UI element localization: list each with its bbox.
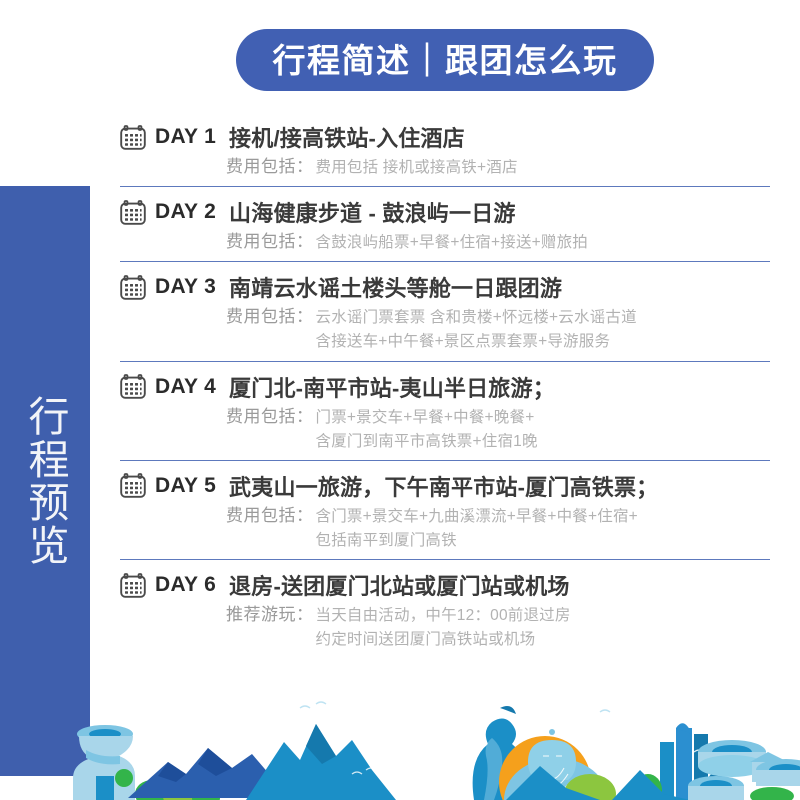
description-text: 费用包括 接机或接高铁+酒店 (314, 157, 518, 179)
description-line: 费用包括： 含接送车+中午餐+景区点票套票+导游服务 (226, 329, 770, 353)
day-title: 南靖云水谣土楼头等舱一日跟团游 (229, 271, 562, 303)
poster-page: 行程预览 行程简述｜跟团怎么玩 (0, 0, 800, 800)
day-label: DAY 4 (155, 375, 216, 399)
calendar-icon (120, 473, 146, 498)
description-text: 门票+景交车+早餐+中餐+晚餐+ (314, 407, 535, 429)
description-label: 费用包括： (226, 405, 314, 429)
list-item[interactable]: DAY 1 接机/接高铁站-入住酒店 费用包括： 费用包括 接机或接高铁+酒店 (120, 112, 770, 187)
day-description: 费用包括： 含门票+景交车+九曲溪漂流+早餐+中餐+住宿+ 费用包括： 包括南平… (120, 504, 770, 552)
list-item[interactable]: DAY 2 山海健康步道 - 鼓浪屿一日游 费用包括： 含鼓浪屿船票+早餐+住宿… (120, 187, 770, 262)
day-header: DAY 4 厦门北-南平市站-夷山半日旅游； (120, 370, 770, 404)
description-label: 费用包括： (226, 230, 314, 254)
day-title: 武夷山一旅游，下午南平市站-厦门高铁票； (229, 470, 658, 502)
day-header: DAY 5 武夷山一旅游，下午南平市站-厦门高铁票； (120, 469, 770, 503)
calendar-icon (120, 374, 146, 399)
footer-illustration (0, 690, 800, 800)
description-line: 费用包括： 门票+景交车+早餐+中餐+晚餐+ (226, 405, 770, 429)
day-title: 退房-送团厦门北站或厦门站或机场 (229, 569, 570, 601)
list-item[interactable]: DAY 6 退房-送团厦门北站或厦门站或机场 推荐游玩： 当天自由活动，中午12… (120, 560, 770, 658)
day-description: 费用包括： 云水谣门票套票 含和贵楼+怀远楼+云水谣古道 费用包括： 含接送车+… (120, 305, 770, 353)
description-text: 包括南平到厦门高铁 (314, 530, 457, 552)
day-label: DAY 1 (155, 125, 216, 149)
day-label: DAY 2 (155, 200, 216, 224)
tulou-tower-left (73, 725, 135, 800)
description-label: 费用包括： (226, 305, 314, 329)
header-pill: 行程简述｜跟团怎么玩 (236, 29, 654, 91)
day-title: 接机/接高铁站-入住酒店 (229, 121, 465, 153)
day-header: DAY 3 南靖云水谣土楼头等舱一日跟团游 (120, 270, 770, 304)
page-title: 行程简述｜跟团怎么玩 (273, 44, 618, 77)
calendar-icon (120, 275, 146, 300)
description-label: 推荐游玩： (226, 603, 314, 627)
description-line: 推荐游玩： 当天自由活动，中午12：00前退过房 (226, 603, 770, 627)
day-header: DAY 2 山海健康步道 - 鼓浪屿一日游 (120, 195, 770, 229)
description-line: 费用包括： 含门票+景交车+九曲溪漂流+早餐+中餐+住宿+ (226, 504, 770, 528)
itinerary-list: DAY 1 接机/接高铁站-入住酒店 费用包括： 费用包括 接机或接高铁+酒店 (120, 112, 770, 658)
day-description: 费用包括： 费用包括 接机或接高铁+酒店 (120, 155, 770, 179)
description-text: 含厦门到南平市高铁票+住宿1晚 (314, 431, 538, 453)
description-line: 费用包括： 含厦门到南平市高铁票+住宿1晚 (226, 429, 770, 453)
description-text: 含鼓浪屿船票+早餐+住宿+接送+赠旅拍 (314, 232, 589, 254)
tulou-cluster-right (688, 740, 800, 800)
list-item[interactable]: DAY 3 南靖云水谣土楼头等舱一日跟团游 费用包括： 云水谣门票套票 含和贵楼… (120, 262, 770, 361)
description-text: 含门票+景交车+九曲溪漂流+早餐+中餐+住宿+ (314, 506, 638, 528)
description-text: 云水谣门票套票 含和贵楼+怀远楼+云水谣古道 (314, 307, 637, 329)
day-description: 推荐游玩： 当天自由活动，中午12：00前退过房 推荐游玩： 约定时间送团厦门高… (120, 603, 770, 651)
day-header: DAY 1 接机/接高铁站-入住酒店 (120, 120, 770, 154)
day-label: DAY 5 (155, 474, 216, 498)
day-title: 山海健康步道 - 鼓浪屿一日游 (229, 196, 516, 228)
description-text: 当天自由活动，中午12：00前退过房 (314, 605, 571, 627)
description-line: 费用包括： 含鼓浪屿船票+早餐+住宿+接送+赠旅拍 (226, 230, 770, 254)
description-label: 费用包括： (226, 504, 314, 528)
day-description: 费用包括： 含鼓浪屿船票+早餐+住宿+接送+赠旅拍 (120, 230, 770, 254)
day-header: DAY 6 退房-送团厦门北站或厦门站或机场 (120, 568, 770, 602)
description-line: 推荐游玩： 约定时间送团厦门高铁站或机场 (226, 627, 770, 651)
day-label: DAY 6 (155, 573, 216, 597)
day-label: DAY 3 (155, 275, 216, 299)
sidebar-label: 行程预览 (18, 395, 72, 567)
description-text: 约定时间送团厦门高铁站或机场 (314, 629, 536, 651)
day-description: 费用包括： 门票+景交车+早餐+中餐+晚餐+ 费用包括： 含厦门到南平市高铁票+… (120, 405, 770, 453)
description-line: 费用包括： 费用包括 接机或接高铁+酒店 (226, 155, 770, 179)
calendar-icon (120, 125, 146, 150)
description-label: 费用包括： (226, 155, 314, 179)
list-item[interactable]: DAY 4 厦门北-南平市站-夷山半日旅游； 费用包括： 门票+景交车+早餐+中… (120, 362, 770, 461)
description-text: 含接送车+中午餐+景区点票套票+导游服务 (314, 331, 611, 353)
day-title: 厦门北-南平市站-夷山半日旅游； (229, 371, 555, 403)
description-line: 费用包括： 云水谣门票套票 含和贵楼+怀远楼+云水谣古道 (226, 305, 770, 329)
description-line: 费用包括： 包括南平到厦门高铁 (226, 528, 770, 552)
list-item[interactable]: DAY 5 武夷山一旅游，下午南平市站-厦门高铁票； 费用包括： 含门票+景交车… (120, 461, 770, 560)
calendar-icon (120, 200, 146, 225)
sidebar-vertical-banner: 行程预览 (0, 186, 90, 776)
calendar-icon (120, 573, 146, 598)
